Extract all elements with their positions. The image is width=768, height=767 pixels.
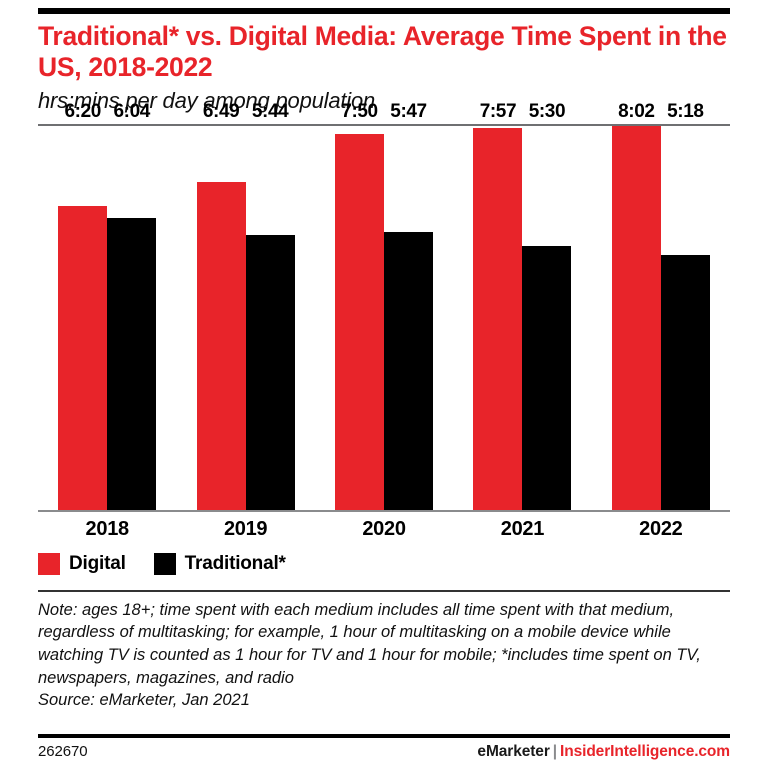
bar-value-label: 6:04 xyxy=(113,101,149,123)
legend-item-digital[interactable]: Digital xyxy=(38,553,126,575)
brand-separator: | xyxy=(550,743,560,760)
bar-column: 5:47 xyxy=(384,126,433,510)
bar-traditional[interactable]: 5:30 xyxy=(522,246,571,510)
bar-chart: 6:206:046:495:447:505:477:575:308:025:18… xyxy=(38,126,730,544)
bar-value-label: 6:20 xyxy=(64,101,100,123)
bar-value-label: 5:44 xyxy=(252,101,288,123)
bar-value-label: 8:02 xyxy=(618,101,654,123)
legend-label: Digital xyxy=(69,553,126,575)
chart-source: Source: eMarketer, Jan 2021 xyxy=(38,689,730,712)
bar-value-label: 5:30 xyxy=(529,101,565,123)
bar-digital[interactable]: 6:20 xyxy=(58,206,107,510)
bar-value-label: 7:50 xyxy=(341,101,377,123)
top-rule-divider xyxy=(38,8,730,14)
bar-column: 6:49 xyxy=(197,126,246,510)
x-axis-tick-label: 2020 xyxy=(315,514,453,544)
chart-id: 262670 xyxy=(38,743,87,760)
bar-group: 6:206:04 xyxy=(38,126,176,510)
x-axis-tick-label: 2022 xyxy=(592,514,730,544)
legend-item-traditional[interactable]: Traditional* xyxy=(154,553,286,575)
bar-column: 5:30 xyxy=(522,126,571,510)
bar-digital[interactable]: 8:02 xyxy=(612,126,661,510)
x-axis-tick-label: 2019 xyxy=(176,514,314,544)
bar-traditional[interactable]: 6:04 xyxy=(107,218,156,510)
brand-attribution: eMarketer|InsiderIntelligence.com xyxy=(477,743,730,761)
bar-column: 7:50 xyxy=(335,126,384,510)
bar-column: 8:02 xyxy=(612,126,661,510)
legend-swatch-traditional xyxy=(154,553,176,575)
x-axis-tick-label: 2018 xyxy=(38,514,176,544)
bar-digital[interactable]: 7:57 xyxy=(473,128,522,510)
footer-divider xyxy=(38,734,730,738)
bar-column: 5:44 xyxy=(246,126,295,510)
x-axis-line xyxy=(38,510,730,512)
note-divider xyxy=(38,590,730,592)
x-axis-tick-label: 2021 xyxy=(453,514,591,544)
legend-swatch-digital xyxy=(38,553,60,575)
bar-value-label: 7:57 xyxy=(480,101,516,123)
bar-group: 7:575:30 xyxy=(453,126,591,510)
bar-column: 7:57 xyxy=(473,126,522,510)
bar-column: 6:20 xyxy=(58,126,107,510)
bar-column: 6:04 xyxy=(107,126,156,510)
x-axis-labels: 20182019202020212022 xyxy=(38,514,730,544)
bar-digital[interactable]: 6:49 xyxy=(197,182,246,510)
bar-digital[interactable]: 7:50 xyxy=(335,134,384,510)
legend-label: Traditional* xyxy=(185,553,286,575)
chart-legend: DigitalTraditional* xyxy=(38,550,730,578)
chart-note: Note: ages 18+; time spent with each med… xyxy=(38,599,730,689)
bar-group: 8:025:18 xyxy=(592,126,730,510)
bar-groups: 6:206:046:495:447:505:477:575:308:025:18 xyxy=(38,126,730,510)
bar-group: 7:505:47 xyxy=(315,126,453,510)
footer-row: 262670 eMarketer|InsiderIntelligence.com xyxy=(38,743,730,761)
bar-traditional[interactable]: 5:18 xyxy=(661,255,710,510)
bar-traditional[interactable]: 5:44 xyxy=(246,235,295,510)
bar-traditional[interactable]: 5:47 xyxy=(384,232,433,510)
page-footer: 262670 eMarketer|InsiderIntelligence.com xyxy=(38,734,730,761)
bar-column: 5:18 xyxy=(661,126,710,510)
bar-value-label: 5:47 xyxy=(390,101,426,123)
bar-group: 6:495:44 xyxy=(176,126,314,510)
bar-value-label: 5:18 xyxy=(667,101,703,123)
brand-insiderintelligence[interactable]: InsiderIntelligence.com xyxy=(560,743,730,760)
bar-value-label: 6:49 xyxy=(203,101,239,123)
brand-emarketer: eMarketer xyxy=(477,743,549,760)
page-title: Traditional* vs. Digital Media: Average … xyxy=(38,21,730,82)
chart-page: Traditional* vs. Digital Media: Average … xyxy=(0,8,768,767)
